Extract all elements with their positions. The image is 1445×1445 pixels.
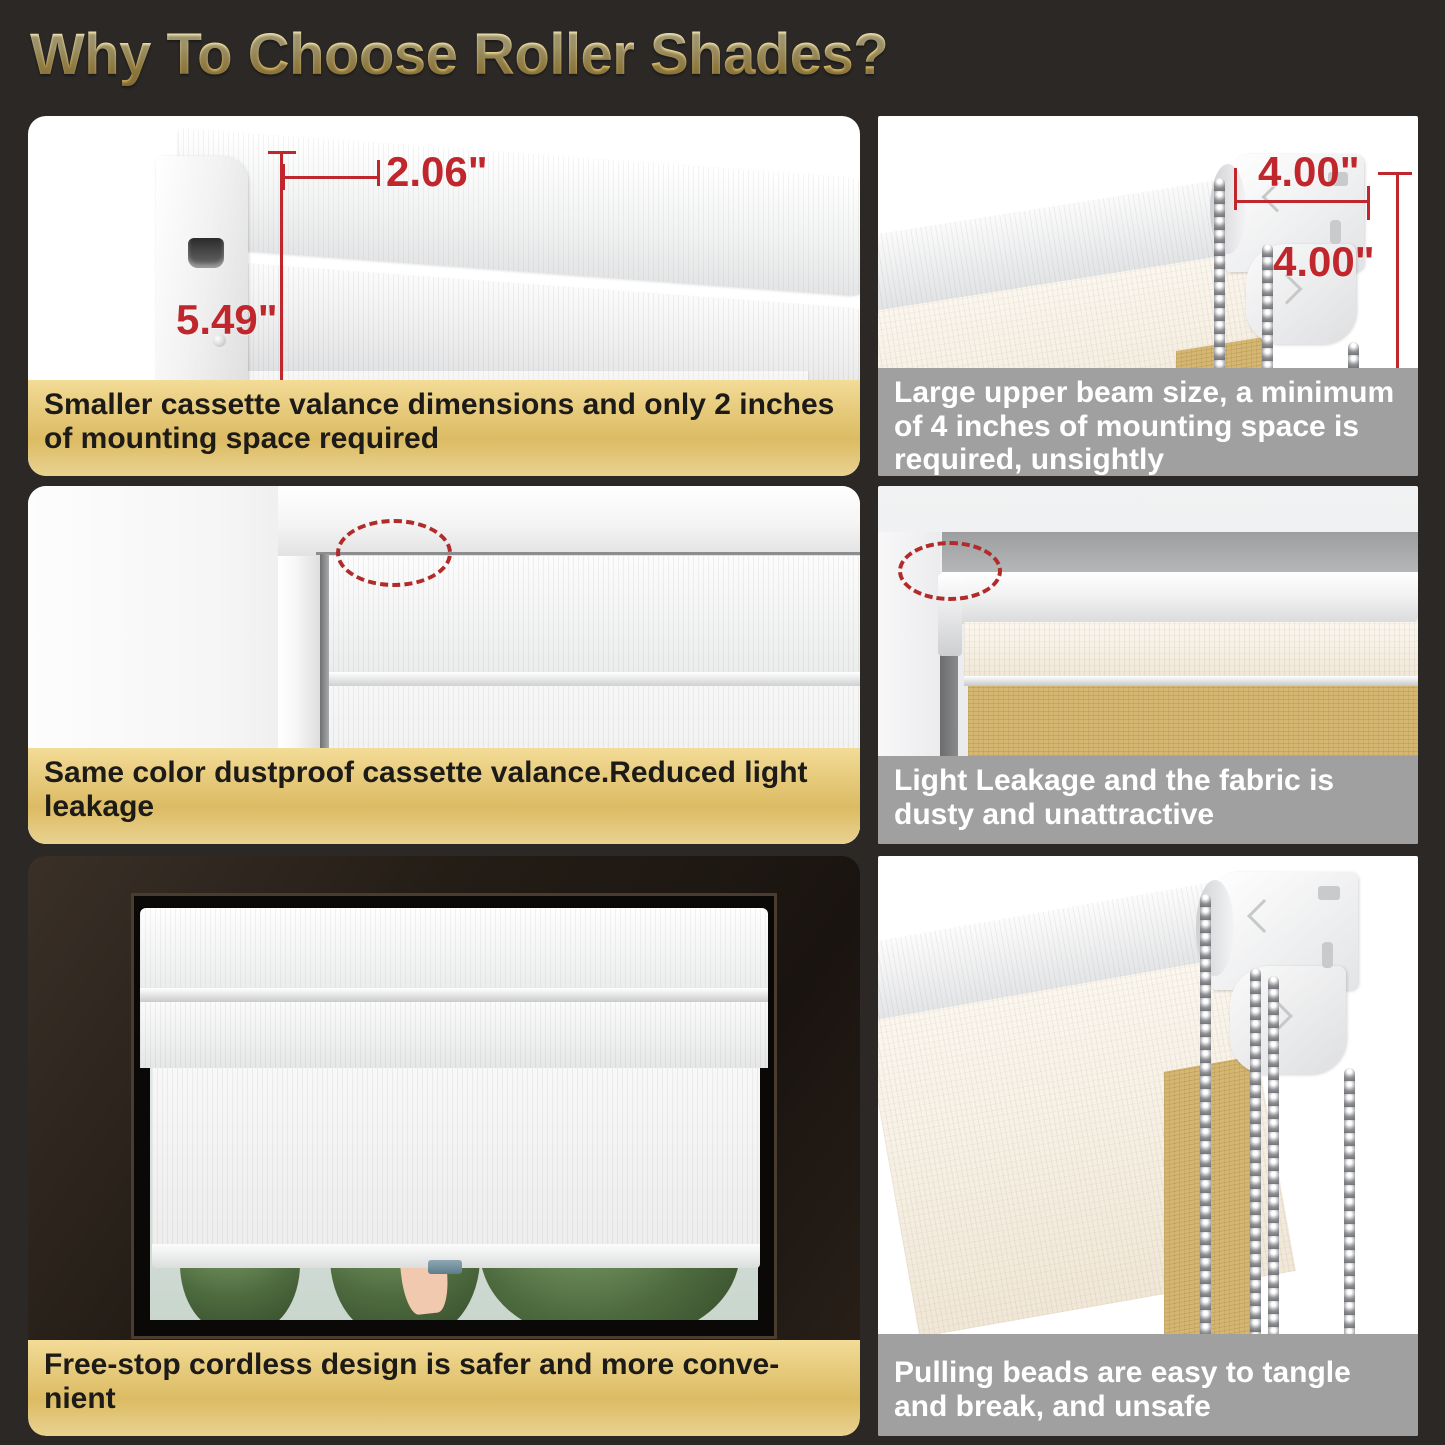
- highlight-ellipse-top-seam: [336, 519, 452, 587]
- highlight-ellipse-bracket: [898, 541, 1002, 601]
- panel-bottom-right-caption: Pulling beads are easy to tangle and bre…: [878, 1348, 1418, 1436]
- bead-chain-mid-b: [1268, 976, 1279, 1342]
- height-dimension-cap-top: [268, 151, 296, 154]
- panel-bottom-left-caption: Free-stop cordless design is safer and m…: [28, 1340, 860, 1436]
- width-dimension-line: [282, 176, 380, 179]
- bead-chain-mid-a: [1250, 968, 1261, 1342]
- panel-mid-right: Large gap Light Leakage and the fabric i…: [878, 486, 1418, 844]
- shade-pull-tab: [428, 1260, 462, 1274]
- valance-bottom-lip: [328, 672, 860, 686]
- bracket-width-dim-cap-right: [1367, 186, 1370, 220]
- end-cap-slot-icon: [188, 238, 224, 268]
- panel-top-right: 4.00" 4.00" Large upper beam size, a min…: [878, 116, 1418, 476]
- height-dimension-label: 5.49": [176, 296, 278, 344]
- comparison-grid: 5.49" 2.06" Smaller cassette valance dim…: [0, 108, 1445, 1445]
- header-bar: Why To Choose Roller Shades?: [0, 0, 1445, 108]
- width-dimension-label: 2.06": [386, 148, 488, 196]
- bead-chain-left: [1200, 894, 1211, 1342]
- panel-top-left: 5.49" 2.06" Smaller cassette valance dim…: [28, 116, 860, 476]
- page-title: Why To Choose Roller Shades?: [30, 21, 888, 88]
- bead-chain-right: [1344, 1068, 1355, 1342]
- panel-bottom-right: Pulling beads are easy to tangle and bre…: [878, 856, 1418, 1436]
- width-dimension-cap-left: [282, 164, 285, 190]
- roller-shade-fabric: [152, 1068, 760, 1248]
- roller-tube: [942, 572, 1418, 624]
- valance-second-slat: [140, 1002, 768, 1068]
- width-dimension-cap-right: [377, 160, 380, 186]
- panel-mid-left-caption: Same color dustproof cassette valance.Re…: [28, 748, 860, 844]
- panel-top-right-caption: Large upper beam size, a minimum of 4 in…: [878, 368, 1418, 476]
- panel-bottom-left: Free-stop cordless design is safer and m…: [28, 856, 860, 1436]
- fabric-top-band: [964, 622, 1418, 678]
- panel-mid-left: smaller gap Same color dustproof cassett…: [28, 486, 860, 844]
- floor-strip: [878, 1334, 1418, 1348]
- bracket-width-dim-label: 4.00": [1258, 148, 1360, 196]
- bracket-height-dim-label: 4.00": [1273, 238, 1375, 286]
- fabric-band-edge: [964, 676, 1418, 686]
- bracket-slot-top-icon: [1318, 886, 1340, 900]
- bracket-height-dim-cap-top: [1378, 172, 1412, 175]
- cassette-valance-header: [140, 908, 768, 990]
- bracket-width-dim-cap-left: [1234, 168, 1237, 210]
- bracket-width-dim-line: [1234, 200, 1370, 203]
- bracket-slot-mid-icon: [1322, 942, 1333, 968]
- panel-mid-right-caption: Light Leakage and the fabric is dusty an…: [878, 756, 1418, 844]
- panel-top-left-caption: Smaller cassette valance dimensions and …: [28, 380, 860, 476]
- valance-header-lip: [140, 988, 768, 1002]
